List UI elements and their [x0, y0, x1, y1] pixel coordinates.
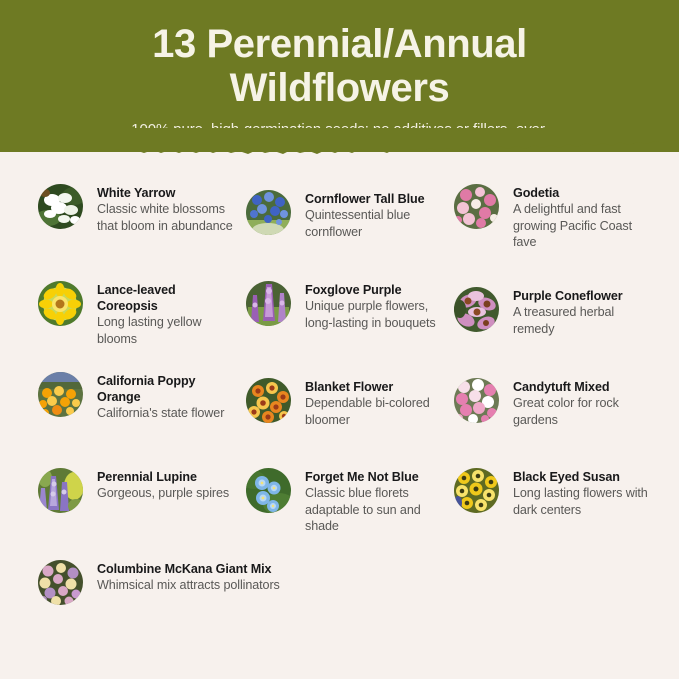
- flower-description: Whimsical mix attracts pollinators: [97, 577, 280, 594]
- flower-description: Classic white blossoms that bloom in abu…: [97, 201, 233, 234]
- flower-description: Quintessential blue cornflower: [305, 207, 441, 240]
- flower-name: Black Eyed Susan: [513, 469, 654, 485]
- flower-name: Cornflower Tall Blue: [305, 191, 441, 207]
- black-eyed-susan-photo: [454, 468, 499, 513]
- candytuft-mixed-photo: [454, 378, 499, 423]
- list-item-black-eyed-susan[interactable]: Black Eyed Susan Long lasting flowers wi…: [454, 468, 654, 518]
- purple-coneflower-photo: [454, 287, 499, 332]
- list-item-text: Columbine McKana Giant Mix Whimsical mix…: [97, 560, 280, 594]
- godetia-photo: [454, 184, 499, 229]
- list-item-california-poppy-orange[interactable]: California Poppy Orange California's sta…: [38, 372, 233, 422]
- foxglove-purple-photo: [246, 281, 291, 326]
- header-banner: 13 Perennial/Annual Wildflowers 100% pur…: [0, 0, 679, 152]
- flower-name: Purple Coneflower: [513, 288, 654, 304]
- page-subtitle: 100% pure, high-germination seeds: no ad…: [0, 120, 679, 140]
- flower-name: Foxglove Purple: [305, 282, 441, 298]
- list-item-lance-leaved-coreopsis[interactable]: Lance-leaved Coreopsis Long lasting yell…: [38, 281, 233, 347]
- flower-name: White Yarrow: [97, 185, 233, 201]
- flower-name: Godetia: [513, 185, 654, 201]
- forget-me-not-blue-photo: [246, 468, 291, 513]
- flower-name: California Poppy Orange: [97, 373, 233, 405]
- flower-description: Long lasting flowers with dark centers: [513, 485, 654, 518]
- flower-row: Columbine McKana Giant Mix Whimsical mix…: [0, 540, 679, 630]
- list-item-text: Foxglove Purple Unique purple flowers, l…: [305, 281, 441, 331]
- columbine-mckana-giant-mix-photo: [38, 560, 83, 605]
- flower-name: Blanket Flower: [305, 379, 441, 395]
- flower-name: Columbine McKana Giant Mix: [97, 561, 280, 577]
- list-item-purple-coneflower[interactable]: Purple Coneflower A treasured herbal rem…: [454, 287, 654, 337]
- list-item-cornflower-tall-blue[interactable]: Cornflower Tall Blue Quintessential blue…: [246, 190, 441, 240]
- list-item-text: Perennial Lupine Gorgeous, purple spires: [97, 468, 229, 502]
- flower-description: A treasured herbal remedy: [513, 304, 654, 337]
- list-item-candytuft-mixed[interactable]: Candytuft Mixed Great color for rock gar…: [454, 378, 654, 428]
- list-item-foxglove-purple[interactable]: Foxglove Purple Unique purple flowers, l…: [246, 281, 441, 331]
- flower-row: Lance-leaved Coreopsis Long lasting yell…: [0, 256, 679, 352]
- list-item-godetia[interactable]: Godetia A delightful and fast growing Pa…: [454, 184, 654, 251]
- list-item-text: Cornflower Tall Blue Quintessential blue…: [305, 190, 441, 240]
- flower-row: Perennial Lupine Gorgeous, purple spires: [0, 444, 679, 540]
- flower-name: Candytuft Mixed: [513, 379, 654, 395]
- perennial-lupine-photo: [38, 468, 83, 513]
- flower-list: White Yarrow Classic white blossoms that…: [0, 158, 679, 630]
- flower-row: California Poppy Orange California's sta…: [0, 352, 679, 444]
- flower-row: White Yarrow Classic white blossoms that…: [0, 158, 679, 256]
- flower-name: Forget Me Not Blue: [305, 469, 441, 485]
- cornflower-tall-blue-photo: [246, 190, 291, 235]
- flower-description: Long lasting yellow blooms: [97, 314, 233, 347]
- flower-description: A delightful and fast growing Pacific Co…: [513, 201, 654, 251]
- california-poppy-orange-photo: [38, 372, 83, 417]
- white-yarrow-photo: [38, 184, 83, 229]
- flower-description: Dependable bi-colored bloomer: [305, 395, 441, 428]
- list-item-text: Godetia A delightful and fast growing Pa…: [513, 184, 654, 251]
- flower-description: Unique purple flowers, long-lasting in b…: [305, 298, 441, 331]
- flower-description: Great color for rock gardens: [513, 395, 654, 428]
- lance-leaved-coreopsis-photo: [38, 281, 83, 326]
- list-item-perennial-lupine[interactable]: Perennial Lupine Gorgeous, purple spires: [38, 468, 233, 513]
- page-subtitle-text: 100% pure, high-germination seeds: no ad…: [131, 121, 515, 138]
- list-item-text: Forget Me Not Blue Classic blue florets …: [305, 468, 441, 535]
- blanket-flower-photo: [246, 378, 291, 423]
- page-subtitle-emphasis: ever.: [515, 121, 547, 138]
- page-title: 13 Perennial/Annual Wildflowers: [60, 22, 620, 110]
- list-item-blanket-flower[interactable]: Blanket Flower Dependable bi-colored blo…: [246, 378, 441, 428]
- flower-name: Perennial Lupine: [97, 469, 229, 485]
- flower-description: California's state flower: [97, 405, 233, 422]
- flower-description: Classic blue florets adaptable to sun an…: [305, 485, 441, 535]
- list-item-text: Lance-leaved Coreopsis Long lasting yell…: [97, 281, 233, 347]
- list-item-text: Black Eyed Susan Long lasting flowers wi…: [513, 468, 654, 518]
- list-item-text: Purple Coneflower A treasured herbal rem…: [513, 287, 654, 337]
- wildflower-seed-infographic: 13 Perennial/Annual Wildflowers 100% pur…: [0, 0, 679, 679]
- flower-name: Lance-leaved Coreopsis: [97, 282, 233, 314]
- flower-description: Gorgeous, purple spires: [97, 485, 229, 502]
- list-item-columbine-mckana-giant-mix[interactable]: Columbine McKana Giant Mix Whimsical mix…: [38, 560, 438, 605]
- list-item-forget-me-not-blue[interactable]: Forget Me Not Blue Classic blue florets …: [246, 468, 441, 535]
- list-item-white-yarrow[interactable]: White Yarrow Classic white blossoms that…: [38, 184, 233, 234]
- list-item-text: California Poppy Orange California's sta…: [97, 372, 233, 422]
- list-item-text: Candytuft Mixed Great color for rock gar…: [513, 378, 654, 428]
- list-item-text: White Yarrow Classic white blossoms that…: [97, 184, 233, 234]
- list-item-text: Blanket Flower Dependable bi-colored blo…: [305, 378, 441, 428]
